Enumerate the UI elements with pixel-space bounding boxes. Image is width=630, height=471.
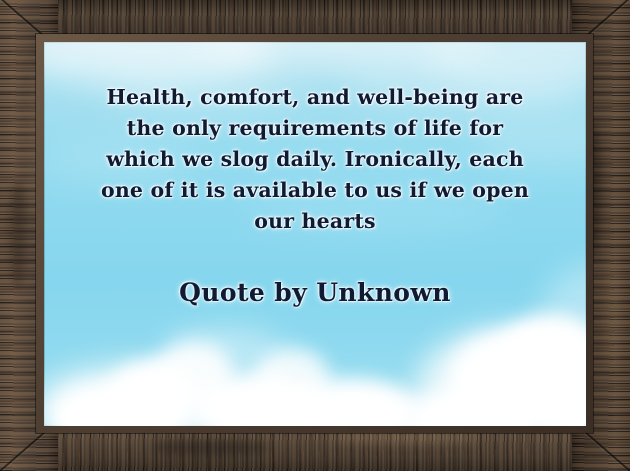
wood-knot bbox=[8, 180, 26, 290]
quote-text-block: Health, comfort, and well-being are the … bbox=[44, 82, 586, 237]
framed-picture: Health, comfort, and well-being are the … bbox=[0, 0, 630, 471]
cloud-puff bbox=[164, 328, 284, 372]
wood-knot bbox=[606, 250, 620, 370]
quote-line: one of it is available to us if we open bbox=[58, 175, 572, 206]
quote-line: which we slog daily. Ironically, each bbox=[58, 144, 572, 175]
quote-line: the only requirements of life for bbox=[58, 113, 572, 144]
quote-line: Health, comfort, and well-being are bbox=[58, 82, 572, 113]
sky-photograph: Health, comfort, and well-being are the … bbox=[44, 42, 586, 426]
wood-knot bbox=[150, 439, 270, 455]
quote-attribution: Quote by Unknown bbox=[44, 278, 586, 307]
quote-line: our hearts bbox=[58, 206, 572, 237]
